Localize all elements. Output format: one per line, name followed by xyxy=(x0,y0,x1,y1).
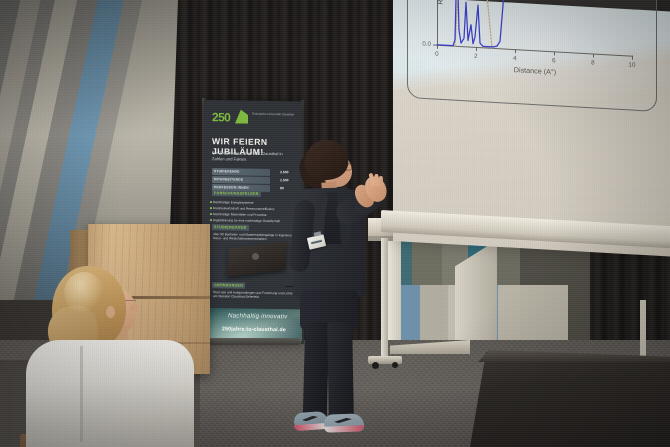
x-tick-label: 2 xyxy=(474,53,478,60)
bullet-text: Digitalisierung für eine nachhaltige Ges… xyxy=(213,218,280,223)
bullet-dot-icon xyxy=(210,207,212,209)
x-tick-label: 0 xyxy=(435,51,439,58)
chart-curves xyxy=(423,0,647,61)
bullet-text: Kreislaufwirtschaft und Ressourceneffizi… xyxy=(213,206,275,211)
x-tick-label: 8 xyxy=(591,59,595,66)
audience-ear xyxy=(106,306,115,318)
anniversary-logo-number: 250 xyxy=(212,110,230,124)
x-tick-label: 6 xyxy=(552,57,556,64)
chart-x-axis-label: Distance (A°) xyxy=(514,65,556,76)
presenter-person xyxy=(278,140,386,440)
laptop-logo-icon xyxy=(252,253,259,260)
presenter-leg-left xyxy=(303,322,330,421)
banner-section-title-programs: STUDIENGÄNGE xyxy=(212,224,249,231)
presentation-photo-scene: 0 2 4 6 8 10 0.0 0.5 1.0 Distance (A°) R… xyxy=(0,0,670,447)
x-tick-label: 4 xyxy=(513,55,517,62)
audience-hair-highlight xyxy=(64,272,104,314)
screen-caster-wheel xyxy=(392,362,398,368)
bullet-dot-icon xyxy=(210,219,212,221)
bullet-text: Nachhaltige Energiesysteme xyxy=(213,200,254,205)
stat-label: MITARBEITENDE xyxy=(214,177,243,181)
chart-series-main xyxy=(437,0,511,49)
stat-label: PROFESSOR:INNEN xyxy=(214,185,249,190)
stat-label: STUDIERENDE xyxy=(214,169,240,173)
draped-table xyxy=(470,352,670,447)
presenter-finger xyxy=(379,176,383,187)
radial-distribution-chart: 0 2 4 6 8 10 0.0 0.5 1.0 Distance (A°) R… xyxy=(423,0,647,95)
audience-top-shading xyxy=(26,382,194,447)
banner-section-title-startups: GRÜNDUNGEN xyxy=(212,282,245,289)
banner-url: 250jahre.tu-clausthal.de xyxy=(222,326,286,333)
presenter-leg-right xyxy=(327,322,354,420)
bullet-text: Nachhaltige Materialien und Prozesse xyxy=(213,212,267,217)
bullet-dot-icon xyxy=(210,201,212,203)
banner-section-title-research: FORSCHUNGSFELDER xyxy=(212,190,261,197)
projection-screen: 0 2 4 6 8 10 0.0 0.5 1.0 Distance (A°) R… xyxy=(393,0,670,241)
university-name-label: Technische Universität Clausthal xyxy=(252,113,294,118)
seated-audience-member xyxy=(20,262,200,447)
x-tick-label: 10 xyxy=(628,61,635,68)
screen-stand-leg-right xyxy=(640,300,646,360)
bullet-dot-icon xyxy=(210,213,212,215)
presenter-shoe-sole-right xyxy=(324,425,364,432)
